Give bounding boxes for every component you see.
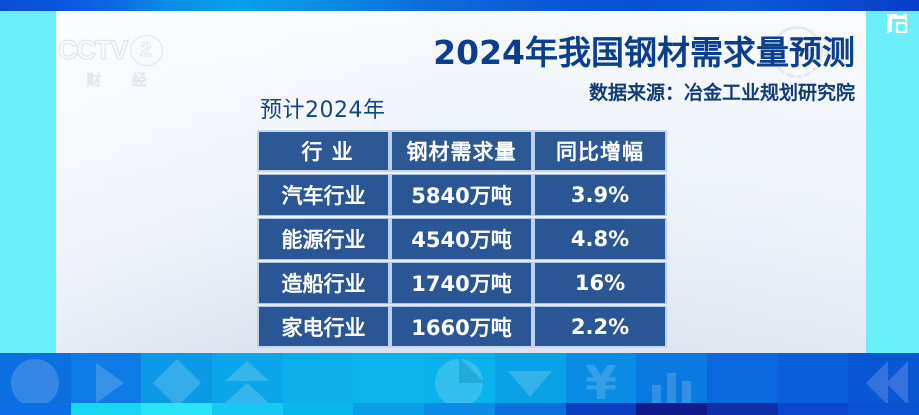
column-header-industry: 行 业 <box>257 130 390 172</box>
accent-segment <box>0 403 71 415</box>
left-cyan-sidebar <box>0 11 56 353</box>
steel-demand-table: 行 业 钢材需求量 同比增幅 汽车行业 5840万吨 3.9% 能源行业 454… <box>257 128 667 350</box>
cell-demand: 5840万吨 <box>390 174 533 216</box>
cell-demand: 1660万吨 <box>390 306 533 348</box>
table-head: 行 业 钢材需求量 同比增幅 <box>257 130 667 172</box>
cell-growth: 2.2% <box>533 306 667 348</box>
accent-segment <box>707 403 778 415</box>
table-row: 汽车行业 5840万吨 3.9% <box>257 174 667 216</box>
cell-industry: 能源行业 <box>257 218 390 260</box>
cell-growth: 4.8% <box>533 218 667 260</box>
page-title: 2024年我国钢材需求量预测 <box>385 33 855 73</box>
column-header-demand: 钢材需求量 <box>390 130 533 172</box>
data-source-line: 数据来源：冶金工业规划研究院 <box>385 81 855 105</box>
top-gradient-strip <box>0 0 919 11</box>
accent-segment <box>71 403 142 415</box>
accent-segment <box>848 403 919 415</box>
column-header-growth: 同比增幅 <box>533 130 667 172</box>
accent-segment <box>283 403 354 415</box>
accent-segment <box>495 403 566 415</box>
accent-segment <box>566 403 637 415</box>
picture-in-picture-icon[interactable] <box>886 14 908 33</box>
accent-segment <box>353 403 424 415</box>
table-header-row: 行 业 钢材需求量 同比增幅 <box>257 130 667 172</box>
cell-industry: 汽车行业 <box>257 174 390 216</box>
accent-segment <box>212 403 283 415</box>
accent-segment <box>636 403 707 415</box>
table-row: 家电行业 1660万吨 2.2% <box>257 306 667 348</box>
bottom-accent-strip <box>0 403 919 415</box>
cell-demand: 4540万吨 <box>390 218 533 260</box>
forecast-year-label: 预计2024年 <box>260 92 386 124</box>
right-cyan-sidebar <box>866 11 919 353</box>
svg-text:¥: ¥ <box>585 357 617 409</box>
cell-growth: 16% <box>533 262 667 304</box>
cell-growth: 3.9% <box>533 174 667 216</box>
broadcast-screen: CCTV 2 财 经 央视网 om 2024年我国钢材需求量预测 数据来源：冶金… <box>0 0 919 415</box>
table-row: 造船行业 1740万吨 16% <box>257 262 667 304</box>
headline-block: 2024年我国钢材需求量预测 数据来源：冶金工业规划研究院 <box>385 33 855 105</box>
cell-industry: 造船行业 <box>257 262 390 304</box>
accent-segment <box>778 403 849 415</box>
cell-industry: 家电行业 <box>257 306 390 348</box>
table-row: 能源行业 4540万吨 4.8% <box>257 218 667 260</box>
cell-demand: 1740万吨 <box>390 262 533 304</box>
accent-segment <box>424 403 495 415</box>
accent-segment <box>141 403 212 415</box>
table-body: 汽车行业 5840万吨 3.9% 能源行业 4540万吨 4.8% 造船行业 1… <box>257 174 667 348</box>
